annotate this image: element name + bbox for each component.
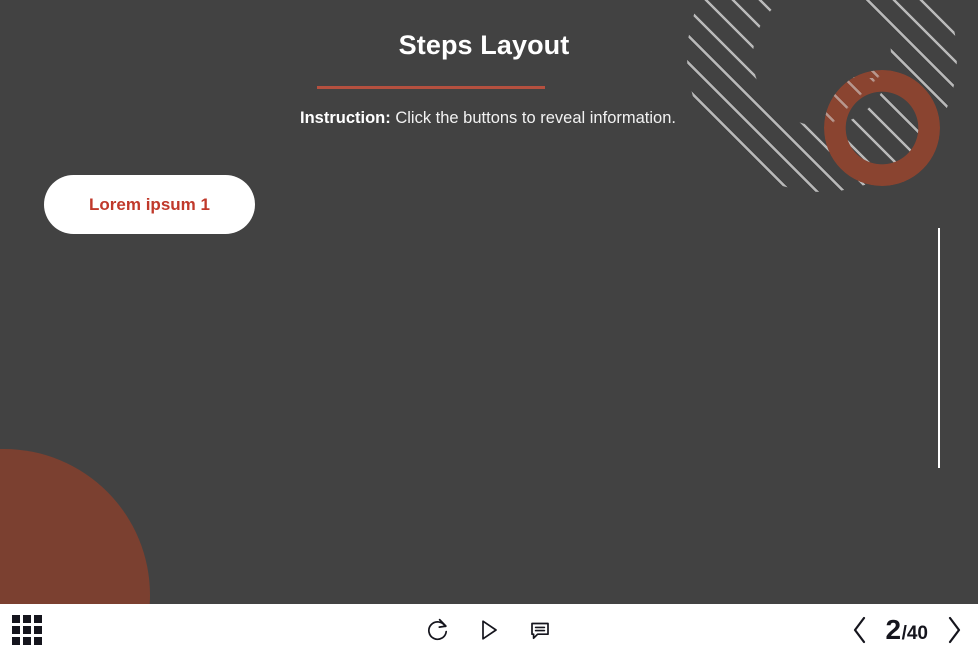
player-control-bar: 2 /40: [0, 604, 978, 656]
title-underline-divider: [317, 86, 545, 89]
next-slide-button[interactable]: [944, 615, 964, 645]
replay-icon: [426, 617, 450, 643]
control-bar-right: 2 /40: [850, 604, 965, 656]
instruction-body: Click the buttons to reveal information.: [391, 109, 676, 127]
notes-comment-icon: [528, 618, 552, 642]
page-current-number: 2: [886, 614, 901, 646]
grid-menu-icon: [12, 615, 42, 645]
page-indicator: 2 /40: [886, 614, 929, 646]
corner-circle-icon: [0, 449, 150, 604]
play-button[interactable]: [478, 617, 500, 643]
instruction-text: Instruction: Click the buttons to reveal…: [300, 109, 676, 128]
page-total-number: /40: [902, 623, 928, 645]
solid-ring-stripes-icon: [824, 70, 940, 186]
replay-button[interactable]: [426, 617, 450, 643]
solid-ring-icon: [824, 70, 940, 186]
slide-player: Steps Layout Instruction: Click the butt…: [0, 0, 978, 656]
vertical-rule-divider: [938, 228, 940, 468]
control-bar-left: [12, 604, 42, 656]
striped-ring-icon: [687, 0, 957, 192]
notes-button[interactable]: [528, 618, 552, 642]
control-bar-center: [0, 604, 978, 656]
step-button-1[interactable]: Lorem ipsum 1: [44, 175, 255, 234]
instruction-label: Instruction:: [300, 109, 391, 127]
chevron-right-icon: [944, 615, 964, 645]
chevron-left-icon: [850, 615, 870, 645]
page-title: Steps Layout: [0, 30, 968, 61]
play-icon: [478, 617, 500, 643]
menu-button[interactable]: [12, 615, 42, 645]
slide-stage: Steps Layout Instruction: Click the butt…: [0, 0, 978, 604]
previous-slide-button[interactable]: [850, 615, 870, 645]
